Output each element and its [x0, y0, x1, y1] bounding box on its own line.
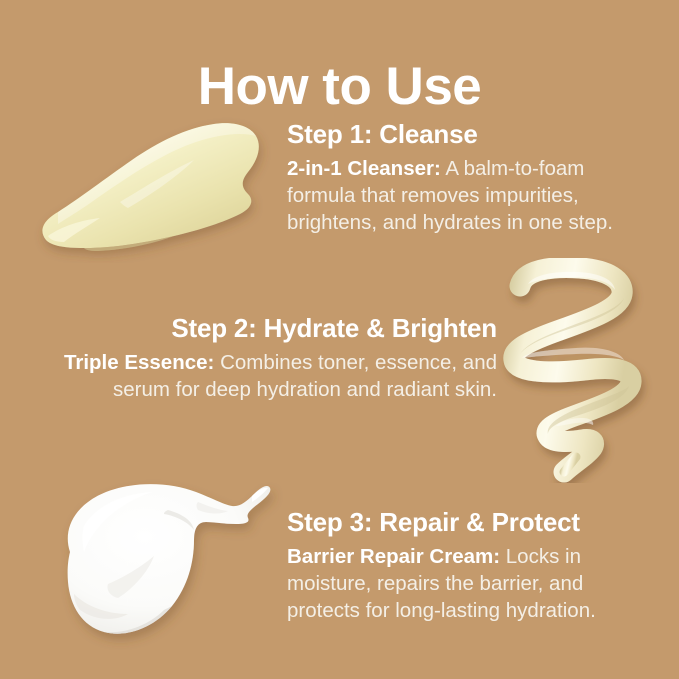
step-1-text-block: Step 1: Cleanse 2-in-1 Cleanser: A balm-…: [287, 118, 647, 236]
step-3-text-block: Step 3: Repair & Protect Barrier Repair …: [287, 506, 647, 624]
how-to-use-infographic: How to Use: [0, 0, 679, 679]
essence-squiggle-swatch: [498, 258, 653, 483]
step-2-description: Triple Essence: Combines toner, essence,…: [42, 349, 497, 404]
step-2-heading: Step 2: Hydrate & Brighten: [42, 312, 497, 345]
step-2-product-name: Triple Essence:: [64, 351, 214, 374]
step-3-description: Barrier Repair Cream: Locks in moisture,…: [287, 543, 647, 625]
balm-swatch: [28, 108, 278, 263]
cream-swatch: [48, 466, 298, 656]
step-3-heading: Step 3: Repair & Protect: [287, 506, 647, 539]
step-3-product-name: Barrier Repair Cream:: [287, 545, 500, 568]
step-1-heading: Step 1: Cleanse: [287, 118, 647, 151]
step-2-text-block: Step 2: Hydrate & Brighten Triple Essenc…: [42, 312, 497, 403]
step-1-description: 2-in-1 Cleanser: A balm-to-foam formula …: [287, 155, 647, 237]
step-1-product-name: 2-in-1 Cleanser:: [287, 157, 441, 180]
